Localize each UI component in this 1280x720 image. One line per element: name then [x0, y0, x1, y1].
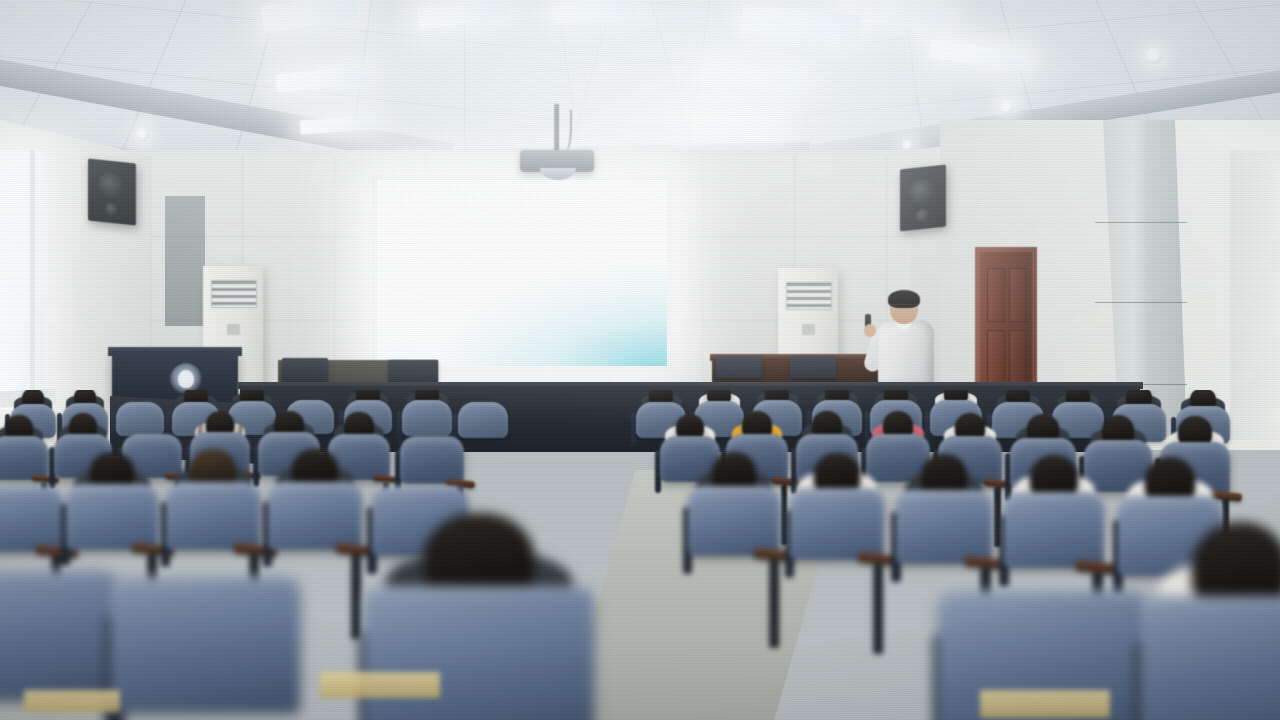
wall-recess-left: [165, 196, 205, 326]
auditorium-seat[interactable]: [1140, 596, 1280, 720]
university-crest-detail-icon: [178, 370, 194, 388]
glasses-icon: [891, 304, 917, 310]
stage-chair-4: [790, 356, 836, 378]
panel-light-9: [690, 114, 781, 135]
window-left: [0, 150, 44, 410]
seat-desktop: [980, 690, 1110, 718]
auditorium-seat[interactable]: [0, 570, 120, 700]
projector-mount-pole: [554, 104, 559, 152]
auditorium-seat[interactable]: [364, 586, 594, 720]
seat-desktop: [24, 690, 120, 712]
downlight-7: [1146, 48, 1162, 64]
seat-row-4: [0, 390, 1280, 720]
panel-light-5: [275, 65, 368, 93]
projection-screen-content: [377, 180, 667, 366]
column-joint-1: [1095, 222, 1187, 223]
panel-light-1: [261, 0, 360, 33]
column-joint-2: [1095, 302, 1187, 303]
presenter-hand: [864, 324, 876, 337]
panel-light-10: [929, 40, 1026, 70]
downlight-1: [136, 128, 149, 141]
panel-light-3: [551, 0, 636, 24]
lecture-hall-photo: A man in a white shirt stands beside a b…: [0, 0, 1280, 720]
stage-chair-1: [282, 358, 328, 384]
wall-speaker-right: [900, 165, 946, 232]
auditorium-seat[interactable]: [110, 576, 300, 712]
panel-light-7: [300, 115, 375, 134]
panel-light-8: [699, 62, 804, 89]
downlight-6: [1000, 100, 1014, 114]
wall-speaker-left: [88, 158, 136, 225]
stage-chair-3: [716, 356, 762, 378]
audience-seating: [0, 390, 1280, 720]
panel-light-2: [417, 0, 507, 29]
window-mullion: [30, 150, 35, 400]
seat-desktop: [320, 672, 440, 698]
